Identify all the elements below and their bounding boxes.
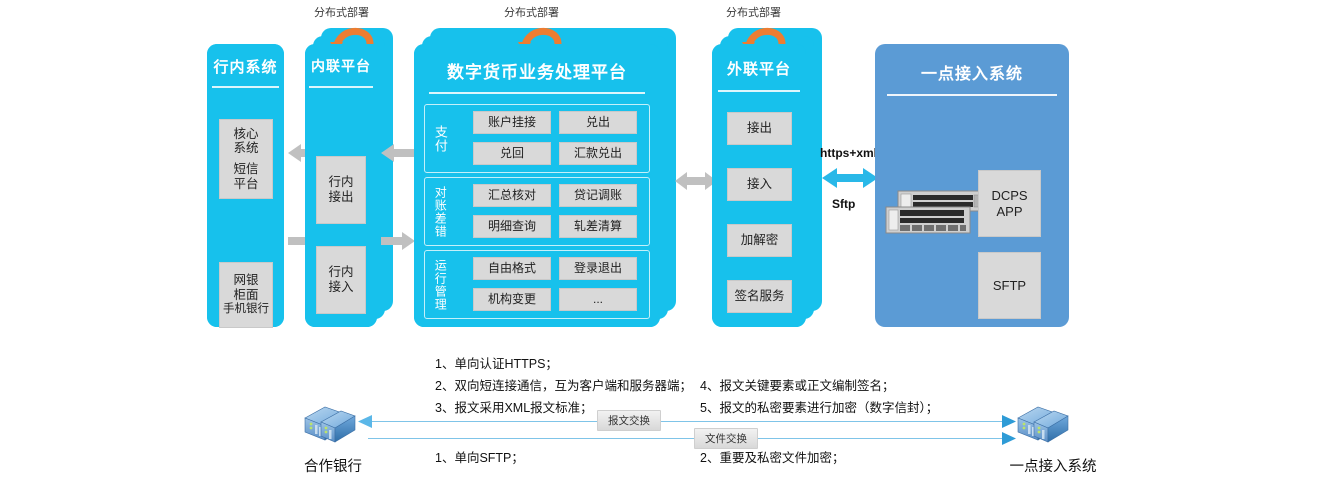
box-ebank-counter-mobile: 网银 柜面 手机银行: [219, 262, 273, 328]
endpoint-label-single-access: 一点接入系统: [998, 455, 1108, 476]
panel-intranet-divider: [309, 86, 372, 88]
panel-single-access-system: 一点接入系统 边界F5 D: [875, 44, 1069, 327]
box-credit-adjust: 贷记调账: [559, 184, 637, 207]
box-dcps-app: DCPS APP: [978, 170, 1041, 237]
arrow-bidirectional-external-access: [822, 167, 878, 189]
box-intranet-ingress: 行内 接入: [316, 246, 366, 314]
panel-external-platform: 外联平台 接出 接入 加解密 签名服务: [712, 44, 806, 327]
label-https-xml: https+xml: [820, 146, 877, 160]
note-left-3: 3、报文采用XML报文标准；: [435, 397, 593, 416]
group-operations: 运行管理 自由格式 登录退出 机构变更 ...: [424, 250, 650, 319]
panel-dcep-divider: [429, 92, 645, 94]
note-left-1: 1、单向认证HTTPS；: [435, 353, 558, 372]
box-summary-check: 汇总核对: [473, 184, 551, 207]
architecture-diagram: 分布式部署 分布式部署 分布式部署 行内系统 核心 系统 短信 平台 网银: [0, 0, 1333, 483]
panel-dcep-title: 数字货币业务处理平台: [414, 58, 660, 83]
panel-external-divider: [718, 90, 801, 92]
panel-intranet-platform: 内联平台 行内 接出 行内 接入: [305, 44, 377, 327]
group-reconciliation: 对账差错 汇总核对 贷记调账 明细查询 轧差清算: [424, 177, 650, 246]
panel-external-title: 外联平台: [712, 58, 806, 79]
box-redeem-out: 兑出: [559, 111, 637, 134]
f5-switch-icon: [874, 185, 994, 245]
box-external-ingress: 接入: [727, 168, 792, 201]
note-bottom-right: 2、重要及私密文件加密；: [700, 447, 844, 466]
group-reconciliation-label: 对账差错: [428, 180, 452, 244]
note-right-5: 5、报文的私密要素进行加密（数字信封）；: [700, 397, 938, 416]
box-detail-query: 明细查询: [473, 215, 551, 238]
box-remittance-out: 汇款兑出: [559, 142, 637, 165]
panel-dcep-platform: 数字货币业务处理平台 支付 账户挂接 兑出 兑回 汇款兑出 对账差错 汇总核对 …: [414, 44, 660, 327]
panel-bank-internal-title: 行内系统: [207, 56, 284, 77]
panel-bank-internal-divider: [212, 86, 280, 88]
box-signature-service: 签名服务: [727, 280, 792, 313]
box-external-egress: 接出: [727, 112, 792, 145]
note-bottom-left: 1、单向SFTP；: [435, 447, 524, 466]
box-login-logout: 登录退出: [559, 257, 637, 280]
group-operations-label: 运行管理: [428, 253, 452, 317]
label-sftp: Sftp: [832, 197, 855, 211]
box-org-change: 机构变更: [473, 288, 551, 311]
note-right-4: 4、报文关键要素或正文编制签名；: [700, 375, 894, 394]
panel-single-access-divider: [887, 94, 1058, 96]
arrow-right-dcep-bottom: [381, 232, 415, 250]
flow-line-file: [368, 438, 1005, 439]
box-sftp: SFTP: [978, 252, 1041, 319]
box-intranet-egress: 行内 接出: [316, 156, 366, 224]
box-encryption: 加解密: [727, 224, 792, 257]
arrow-left-dcep-top: [381, 144, 415, 162]
box-account-link: 账户挂接: [473, 111, 551, 134]
group-payment-label: 支付: [429, 113, 451, 165]
flow-badge-message-exchange: 报文交换: [597, 410, 661, 431]
box-netting-settlement: 轧差清算: [559, 215, 637, 238]
arrow-bidirectional-dcep-external: [675, 172, 717, 190]
note-left-2: 2、双向短连接通信，互为客户端和服务器端；: [435, 375, 692, 394]
box-more: ...: [559, 288, 637, 311]
box-core-system: 核心 系统 短信 平台: [219, 119, 273, 199]
flow-line-message: [368, 421, 1005, 422]
box-redeem-back: 兑回: [473, 142, 551, 165]
panel-bank-internal-system: 行内系统 核心 系统 短信 平台 网银 柜面 手机银行: [207, 44, 284, 327]
box-free-format: 自由格式: [473, 257, 551, 280]
panel-intranet-title: 内联平台: [305, 56, 377, 76]
flow-badge-file-exchange: 文件交换: [694, 428, 758, 449]
group-payment: 支付 账户挂接 兑出 兑回 汇款兑出: [424, 104, 650, 173]
endpoint-label-partner-bank: 合作银行: [288, 455, 378, 476]
server-icon-partner-bank: [295, 400, 361, 448]
server-icon-single-access: [1008, 400, 1074, 448]
panel-single-access-title: 一点接入系统: [875, 60, 1069, 84]
